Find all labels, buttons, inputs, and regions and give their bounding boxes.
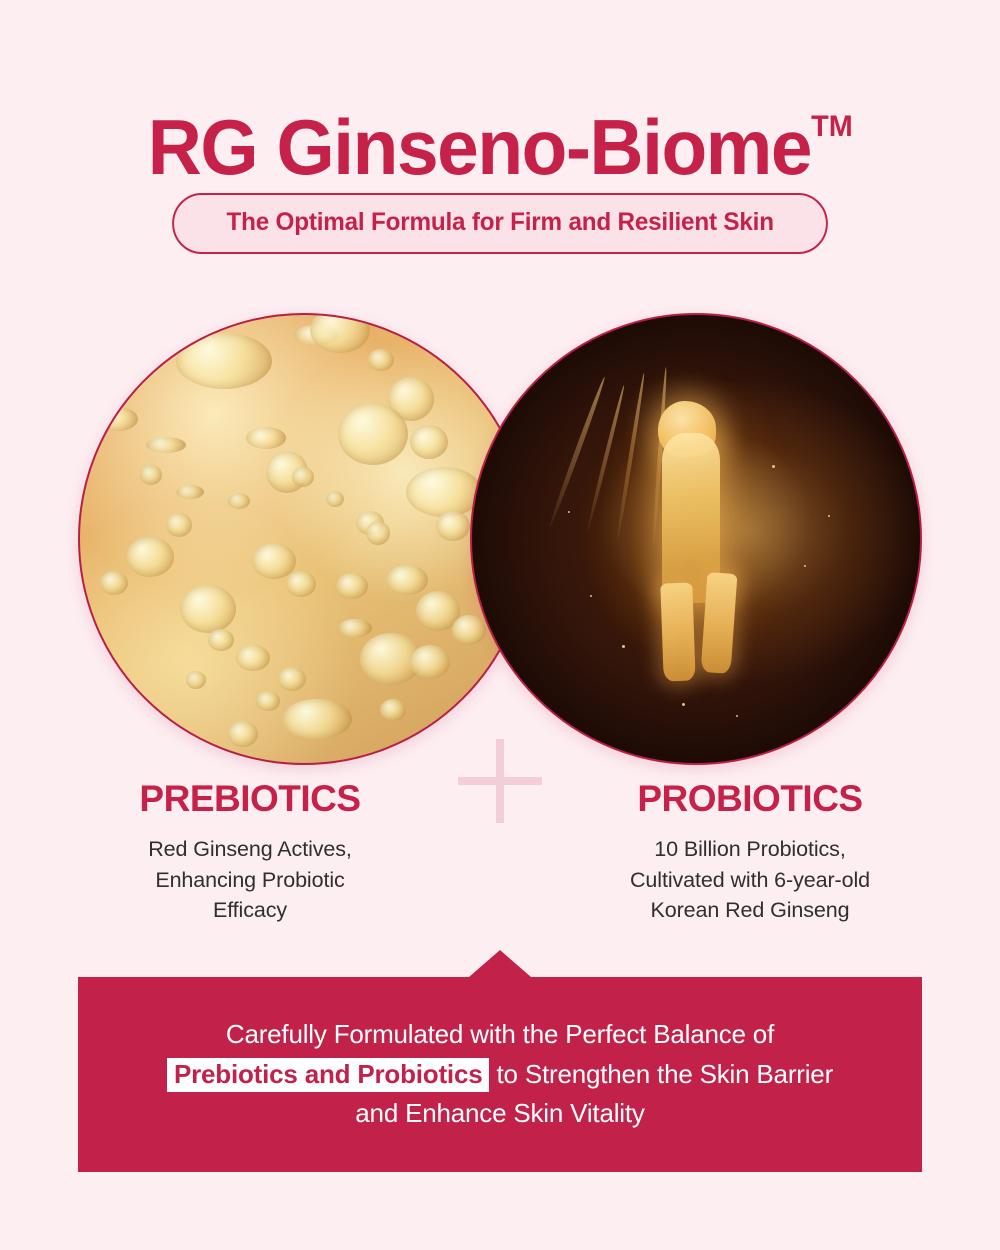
bubble-icon <box>406 467 482 517</box>
probiotics-column: PROBIOTICS 10 Billion Probiotics, Cultiv… <box>500 780 1000 926</box>
bubble-icon <box>338 619 372 637</box>
sparkle-icon <box>682 703 685 706</box>
bubble-icon <box>292 467 314 487</box>
bubble-icon <box>228 721 258 747</box>
bubble-icon <box>436 511 470 541</box>
ingredient-images <box>0 313 1000 768</box>
bubble-icon <box>108 359 144 389</box>
bubble-icon <box>208 629 234 651</box>
bubble-icon <box>186 671 206 689</box>
sparkle-icon <box>622 645 625 648</box>
probiotics-circle-image <box>470 313 922 765</box>
sparkle-icon <box>590 595 592 597</box>
banner-line-1: Carefully Formulated with the Perfect Ba… <box>226 1015 774 1055</box>
banner-line-3: and Enhance Skin Vitality <box>355 1094 644 1134</box>
probiotics-description: 10 Billion Probiotics, Cultivated with 6… <box>540 834 960 926</box>
bubble-icon <box>180 585 236 633</box>
prebiotics-column: PREBIOTICS Red Ginseng Actives, Enhancin… <box>0 780 500 926</box>
bubble-icon <box>176 333 272 389</box>
bubble-icon <box>410 645 450 679</box>
probiotics-description-line: Cultivated with 6-year-old <box>540 865 960 896</box>
bubble-icon <box>256 691 280 711</box>
bubble-icon <box>176 485 204 499</box>
bubble-icon <box>410 425 448 459</box>
sparkle-icon <box>568 511 570 513</box>
brand-title: RG Ginseno-BiomeTM <box>147 108 852 186</box>
prebiotics-description: Red Ginseng Actives, Enhancing Probiotic… <box>40 834 460 926</box>
summary-banner: Carefully Formulated with the Perfect Ba… <box>78 977 922 1172</box>
bubble-icon <box>228 493 250 509</box>
brand-title-text: RG Ginseno-Biome <box>147 103 810 191</box>
bubble-icon <box>98 407 138 431</box>
banner-line-2-rest: to Strengthen the Skin Barrier <box>489 1059 833 1089</box>
bubble-icon <box>146 437 186 453</box>
sparkle-icon <box>804 565 806 567</box>
subtitle-pill-wrapper: The Optimal Formula for Firm and Resilie… <box>0 193 1000 254</box>
bubble-icon <box>326 491 344 507</box>
subtitle-pill: The Optimal Formula for Firm and Resilie… <box>172 193 828 254</box>
summary-banner-text: Carefully Formulated with the Perfect Ba… <box>78 977 922 1172</box>
root-leg-icon <box>701 572 738 674</box>
bubble-icon <box>368 349 394 371</box>
prebiotics-circle-image <box>78 313 530 765</box>
prebiotics-description-line: Red Ginseng Actives, <box>40 834 460 865</box>
bubble-icon <box>366 521 390 545</box>
bubble-icon <box>140 465 162 485</box>
bubble-icon <box>236 645 270 671</box>
trademark-symbol: TM <box>811 110 853 143</box>
prebiotics-description-line: Efficacy <box>40 895 460 926</box>
banner-arrow-icon <box>469 950 531 977</box>
bubble-icon <box>126 537 174 577</box>
bubble-icon <box>282 699 352 739</box>
prebiotics-heading: PREBIOTICS <box>40 780 460 817</box>
prebiotics-description-line: Enhancing Probiotic <box>40 865 460 896</box>
banner-line-2: Prebiotics and Probiotics to Strengthen … <box>167 1055 833 1095</box>
root-whisker-icon <box>547 376 606 528</box>
bubble-icon <box>252 543 296 579</box>
bubble-icon <box>278 667 306 691</box>
probiotics-heading: PROBIOTICS <box>540 780 960 817</box>
root-leg-icon <box>660 582 695 681</box>
bubble-icon <box>338 403 408 465</box>
sparkle-icon <box>772 465 775 468</box>
bubble-icon <box>286 571 316 597</box>
probiotics-description-line: 10 Billion Probiotics, <box>540 834 960 865</box>
bubble-icon <box>386 565 428 595</box>
banner-highlight: Prebiotics and Probiotics <box>167 1058 490 1092</box>
bubble-icon <box>246 427 286 449</box>
bubble-icon <box>336 573 368 599</box>
sparkle-icon <box>736 715 738 717</box>
bubble-icon <box>380 699 406 721</box>
bubble-icon <box>310 313 370 353</box>
sparkle-icon <box>828 515 830 517</box>
probiotics-description-line: Korean Red Ginseng <box>540 895 960 926</box>
bubble-icon <box>100 571 128 595</box>
bubble-icon <box>452 615 486 645</box>
bubble-icon <box>166 513 192 537</box>
ingredient-columns: PREBIOTICS Red Ginseng Actives, Enhancin… <box>0 780 1000 926</box>
infographic-page: RG Ginseno-BiomeTM The Optimal Formula f… <box>0 0 1000 1250</box>
